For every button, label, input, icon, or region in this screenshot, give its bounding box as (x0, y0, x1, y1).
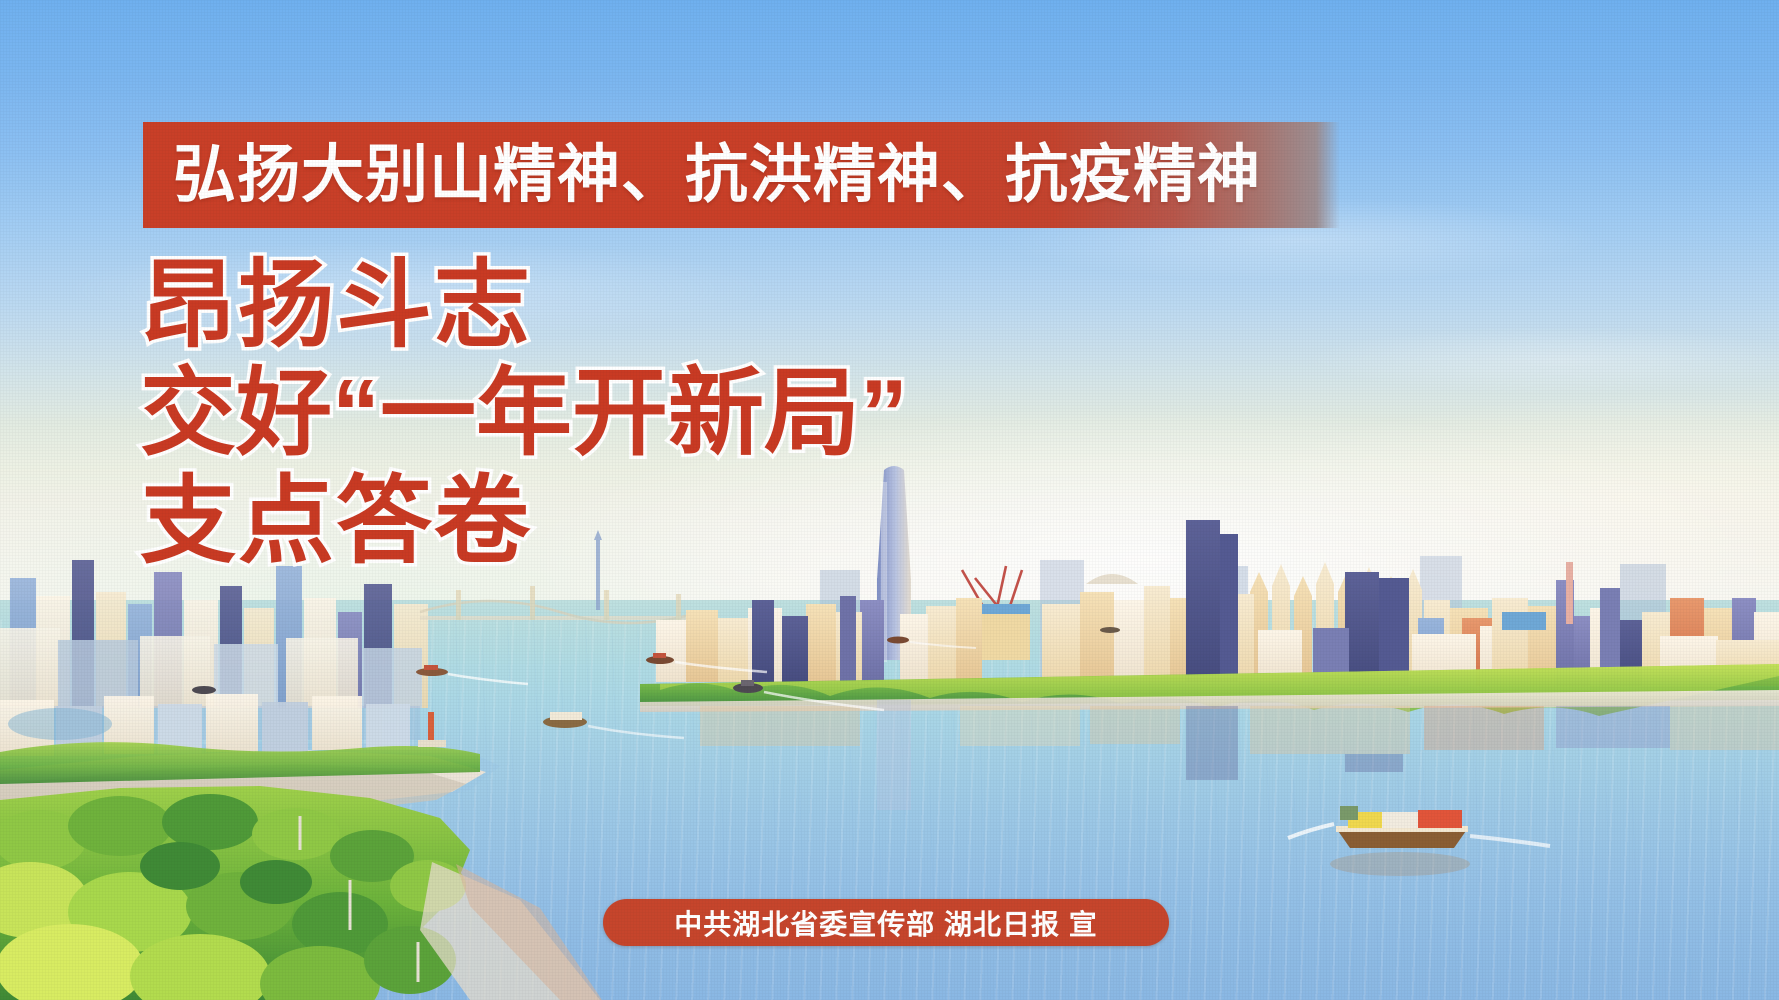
poster-canvas: 弘扬大别山精神、抗洪精神、抗疫精神 昂扬斗志 交好“一年开新局” 支点答卷 中共… (0, 0, 1779, 1000)
headline-block: 昂扬斗志 交好“一年开新局” 支点答卷 (140, 252, 908, 576)
banner-slogan: 弘扬大别山精神、抗洪精神、抗疫精神 (173, 133, 1261, 217)
headline-line-1: 昂扬斗志 (140, 252, 908, 360)
credit-badge: 中共湖北省委宣传部 湖北日报 宣 (603, 899, 1169, 946)
headline-line-3: 支点答卷 (140, 468, 908, 576)
credit-text: 中共湖北省委宣传部 湖北日报 宣 (674, 903, 1098, 943)
headline-line-2: 交好“一年开新局” (140, 360, 908, 468)
